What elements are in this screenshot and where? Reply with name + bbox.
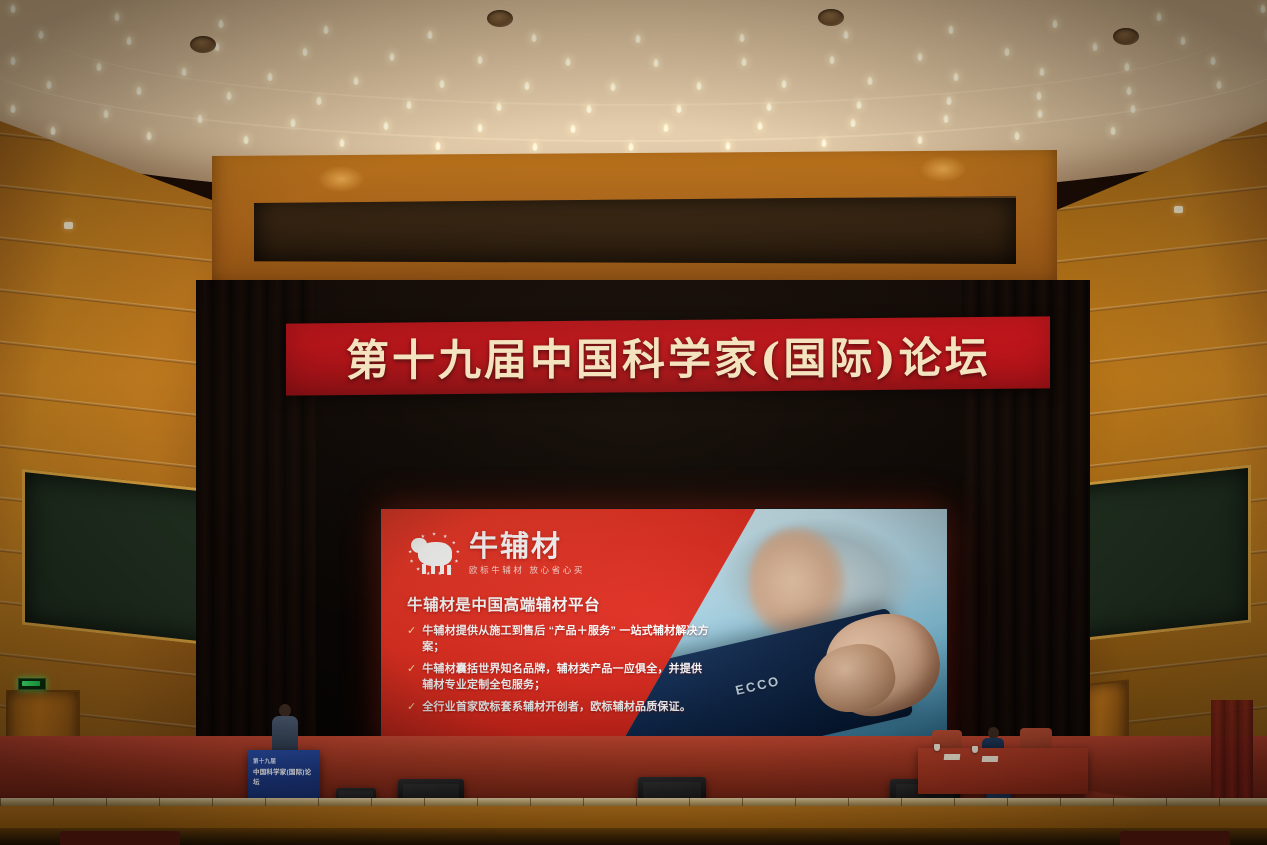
ceiling-star-light — [50, 126, 56, 135]
ceiling-recessed-light — [487, 10, 513, 27]
ceiling-star-light — [38, 30, 44, 39]
ceiling-star-light — [917, 52, 923, 61]
ceiling-star-light — [1126, 86, 1132, 95]
event-banner: 第十九届中国科学家(国际)论坛 — [286, 316, 1050, 395]
ceiling-star-light — [1039, 67, 1045, 76]
ceiling-star-light — [226, 91, 232, 100]
logo-star — [456, 550, 460, 554]
ceiling-star-light — [1124, 62, 1130, 71]
ceiling-star-light — [653, 58, 659, 67]
podium-line-2: 中国科学家(国际)论坛 — [253, 766, 315, 786]
ceiling-star-light — [96, 62, 102, 71]
podium-line-1: 第十九届 — [253, 757, 315, 765]
exit-sign-icon — [18, 678, 46, 690]
ceiling-star-light — [946, 96, 952, 105]
logo-star — [454, 559, 458, 563]
ceiling-recessed-light — [190, 36, 216, 53]
logo-star — [443, 534, 447, 538]
ceiling-star-light — [948, 25, 954, 34]
conference-hall-photo: 第十九届中国科学家(国际)论坛 ECCO 牛辅材 欧标牛辅材 放心省心买 — [0, 0, 1267, 845]
ceiling-star-light — [856, 100, 862, 109]
ceiling-star-light — [532, 142, 538, 151]
ceiling-star-light — [696, 81, 702, 90]
soffit-glow-right — [920, 156, 966, 182]
ceiling-star-light — [339, 138, 345, 147]
slide-bullet-text: 牛辅材提供从施工到售后 “产品＋服务” 一站式辅材解决方案； — [422, 624, 711, 656]
slide-bullet-text: 牛辅材囊括世界知名品牌，辅材类产品一应俱全，并提供辅材专业定制全包服务； — [422, 662, 711, 694]
ceiling-star-light — [850, 118, 856, 127]
ceiling-recessed-light — [818, 9, 844, 26]
audience-seat-row — [60, 831, 180, 845]
ceiling-star-light — [10, 56, 16, 65]
check-icon: ✓ — [407, 700, 416, 716]
table-nameplate — [944, 754, 961, 760]
ceiling-star-light — [323, 25, 329, 34]
ceiling-star-light — [1037, 109, 1043, 118]
ceiling-star-light — [628, 142, 634, 151]
logo-star — [416, 567, 420, 571]
ceiling-star-light — [10, 4, 16, 13]
slide-headline: 牛辅材是中国高端辅材平台 — [407, 593, 711, 615]
ceiling-star-light — [586, 104, 592, 113]
ceiling-star-light — [427, 30, 433, 39]
ceiling-star-light — [531, 33, 537, 42]
ceiling-star-light — [1052, 19, 1058, 28]
logo-star — [432, 532, 436, 536]
ceiling-star-light — [1130, 104, 1136, 113]
ceiling-star-light — [302, 47, 308, 56]
wall-spotlight-right — [1174, 206, 1183, 213]
speaker-body — [272, 716, 298, 752]
event-banner-title: 第十九届中国科学家(国际)论坛 — [346, 324, 991, 389]
slide-bullet-item: ✓牛辅材提供从施工到售后 “产品＋服务” 一站式辅材解决方案； — [407, 624, 711, 656]
slide-bullet-list: ✓牛辅材提供从施工到售后 “产品＋服务” 一站式辅材解决方案；✓牛辅材囊括世界知… — [407, 624, 711, 716]
ceiling-star-light — [1260, 4, 1266, 13]
ceiling-star-light — [10, 104, 16, 113]
ceiling-star-light — [953, 72, 959, 81]
ceiling-star-light — [114, 12, 120, 21]
ceiling-star-light — [570, 124, 576, 133]
logo-star — [410, 559, 414, 563]
ceiling-star-light — [406, 100, 412, 109]
ceiling-star-light — [290, 118, 296, 127]
logo-star — [452, 541, 456, 545]
speaker-person — [272, 704, 298, 752]
ceiling-recessed-light — [1113, 28, 1139, 45]
ceiling-star-light — [439, 79, 445, 88]
ceiling-star-light — [477, 123, 483, 132]
ceiling-star-light — [353, 76, 359, 85]
logo-bull-shape — [418, 542, 452, 566]
logo-star — [448, 567, 452, 571]
logo-star — [408, 550, 412, 554]
ceiling-star-light — [676, 104, 682, 113]
check-icon: ✓ — [407, 662, 416, 694]
brand-name: 牛辅材 — [469, 533, 585, 562]
ceiling-star-light — [829, 55, 835, 64]
ceiling-star-light — [1014, 131, 1020, 140]
slide-bullet-item: ✓牛辅材囊括世界知名品牌，辅材类产品一应俱全，并提供辅材专业定制全包服务； — [407, 662, 711, 694]
logo-star — [438, 571, 442, 575]
ceiling-star-light — [1110, 126, 1116, 135]
ceiling-star-light — [46, 80, 52, 89]
wall-spotlight-left — [64, 222, 73, 229]
ceiling-star-light — [821, 138, 827, 147]
ceiling-star-light — [635, 34, 641, 43]
proscenium-acoustic-recess — [254, 196, 1016, 264]
ceiling-star-light — [610, 82, 616, 91]
bull-with-stars-icon — [407, 531, 461, 577]
audience-foreground — [0, 828, 1267, 845]
ceiling-star-light — [1036, 91, 1042, 100]
table-cup — [934, 744, 940, 751]
ceiling-star-light — [136, 86, 142, 95]
audience-seat-row — [1120, 831, 1230, 845]
ceiling-star-light — [126, 36, 132, 45]
slide-bullet-text: 全行业首家欧标套系辅材开创者，欧标辅材品质保证。 — [422, 700, 691, 716]
slide-logo-text: 牛辅材 欧标牛辅材 放心省心买 — [469, 533, 585, 575]
table-nameplate — [982, 756, 999, 762]
ceiling-star-light — [725, 141, 731, 150]
ceiling-star-light — [1156, 12, 1162, 21]
slide-text-panel: 牛辅材 欧标牛辅材 放心省心买 牛辅材是中国高端辅材平台 ✓牛辅材提供从施工到售… — [381, 509, 711, 751]
slide-bullet-item: ✓全行业首家欧标套系辅材开创者，欧标辅材品质保证。 — [407, 700, 711, 716]
brand-tagline: 欧标牛辅材 放心省心买 — [469, 566, 585, 575]
ceiling-star-light — [243, 135, 249, 144]
slide-logo: 牛辅材 欧标牛辅材 放心省心买 — [407, 531, 711, 577]
ceiling-star-light — [741, 57, 747, 66]
ceiling-star-light — [739, 33, 745, 42]
logo-star — [426, 571, 430, 575]
led-presentation-screen[interactable]: ECCO 牛辅材 欧标牛辅材 放心省心买 牛辅材是中国高端辅材平台 ✓牛辅材提供… — [380, 508, 948, 752]
soffit-glow-left — [318, 166, 364, 192]
check-icon: ✓ — [407, 624, 416, 656]
ceiling-star-light — [316, 96, 322, 105]
ceiling-star-light — [1210, 56, 1216, 65]
ceiling-star-light — [1216, 80, 1222, 89]
ceiling-star-light — [197, 114, 203, 123]
ceiling-star-light — [757, 121, 763, 130]
table-cup — [972, 746, 978, 753]
